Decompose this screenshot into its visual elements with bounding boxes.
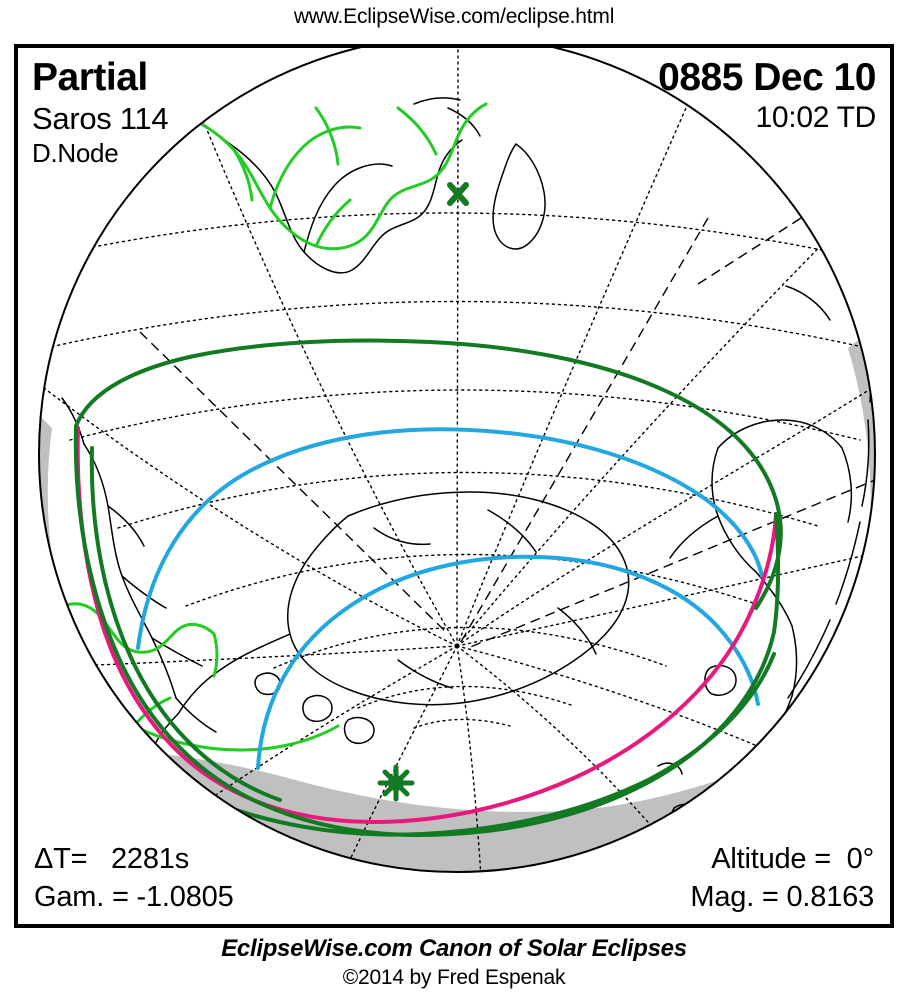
eclipse-map-panel: Partial Saros 114 D.Node 0885 Dec 10 10:… [14,44,894,928]
saros-label: Saros 114 [32,100,168,137]
gamma-value: Gam. = -1.0805 [34,878,234,916]
magnitude-value: Mag. = 0.8163 [690,878,874,916]
eclipse-date-label: 0885 Dec 10 [658,56,876,100]
eclipse-time-label: 10:02 TD [658,100,876,136]
source-url: www.EclipseWise.com/eclipse.html [0,4,908,30]
header-right-block: 0885 Dec 10 10:02 TD [658,56,876,136]
copyright-caption: ©2014 by Fred Espenak [0,965,908,991]
graticule-dashdot-lines [140,188,880,648]
altitude-value: Altitude = 0° [690,840,874,878]
header-left-block: Partial Saros 114 D.Node [32,56,168,169]
delta-t-value: ΔT= 2281s [34,840,234,878]
globe-orthographic-map [18,48,890,924]
coastlines [62,98,871,842]
stats-right-block: Altitude = 0° Mag. = 0.8163 [690,840,874,916]
eclipse-page: www.EclipseWise.com/eclipse.html [0,0,908,1004]
eclipse-visibility-coastline [53,88,866,750]
graticule-parallels [40,213,878,728]
eclipse-type-label: Partial [32,56,168,100]
graticule-meridians [22,50,890,924]
greatest-eclipse-asterisk [380,767,412,799]
penumbral-limit-curves [48,341,781,835]
stats-left-block: ΔT= 2281s Gam. = -1.0805 [34,840,234,916]
canon-caption: EclipseWise.com Canon of Solar Eclipses [0,934,908,963]
node-label: D.Node [32,137,168,169]
eclipse-map-canvas: Partial Saros 114 D.Node 0885 Dec 10 10:… [18,48,890,924]
